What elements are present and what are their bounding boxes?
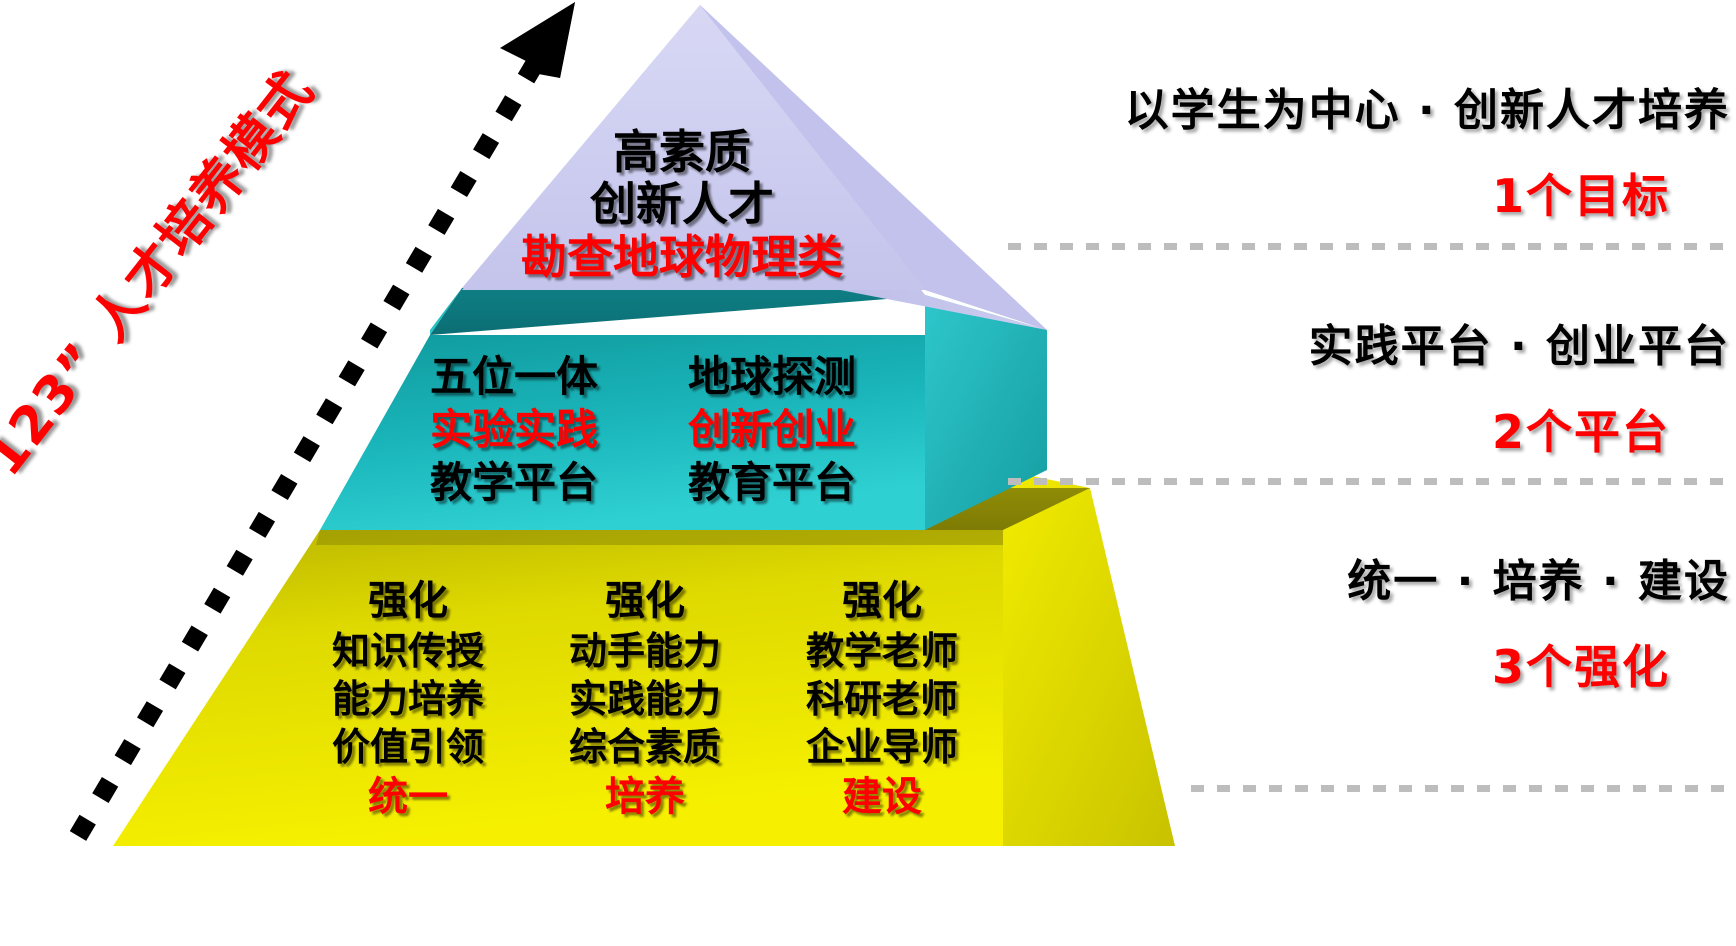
annotation-platform: 实践平台 · 创业平台 2个平台	[906, 310, 1736, 462]
annotation-strengthen: 统一 · 培养 · 建设 3个强化	[906, 545, 1736, 697]
middle-tier-front	[320, 335, 925, 530]
annotation-divider-3	[1191, 785, 1736, 792]
pyramid-diagram: “123” 人才培养模式 高素质 创新人才 勘查地球物理类 五位一体 实验实践 …	[0, 0, 1736, 946]
middle-tier-bevel-2	[430, 288, 925, 335]
annotation-strengthen-tagline: 3个强化	[906, 631, 1730, 697]
bottom-tier-shadow	[316, 530, 1003, 545]
annotation-goal-head: 以学生为中心 · 创新人才培养	[906, 74, 1730, 138]
annotation-divider-2	[1008, 478, 1736, 485]
annotation-platform-tagline: 2个平台	[906, 396, 1730, 462]
annotation-goal-tagline: 1个目标	[906, 160, 1730, 226]
annotation-divider-1	[1008, 243, 1736, 250]
bottom-tier-front	[113, 530, 1003, 846]
annotation-strengthen-head: 统一 · 培养 · 建设	[906, 545, 1730, 609]
annotation-goal: 以学生为中心 · 创新人才培养 1个目标	[906, 74, 1736, 226]
annotation-platform-head: 实践平台 · 创业平台	[906, 310, 1730, 374]
